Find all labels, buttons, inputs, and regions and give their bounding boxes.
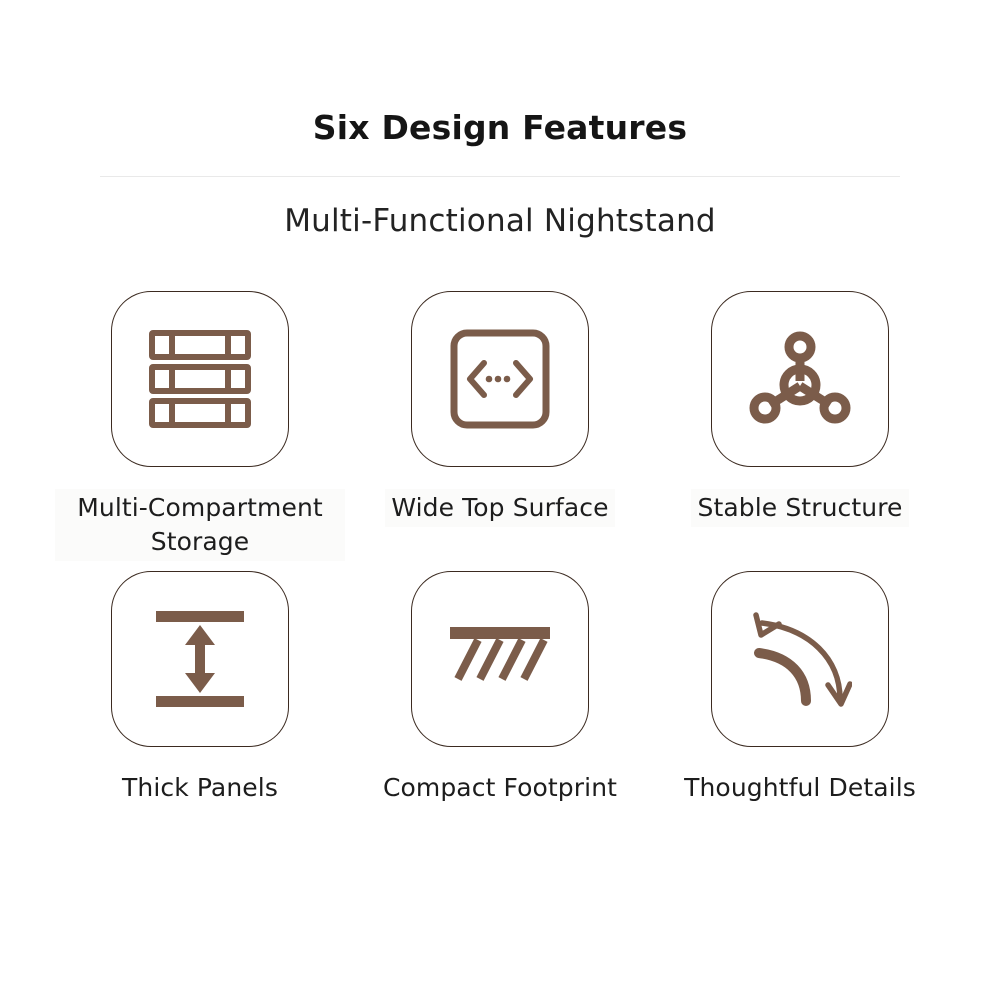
icon-tile — [411, 571, 589, 747]
feature-label: Compact Footprint — [377, 769, 623, 807]
feature-label: Multi-Compartment Storage — [55, 489, 345, 561]
feature-item-thick-panels[interactable]: Thick Panels — [50, 571, 350, 807]
page-title: Six Design Features — [313, 110, 687, 146]
feature-item-wide-top-surface[interactable]: Wide Top Surface — [350, 291, 650, 561]
width-measure-icon — [450, 329, 550, 429]
node-structure-icon — [748, 329, 852, 429]
page-subtitle: Multi-Functional Nightstand — [284, 203, 716, 239]
feature-item-thoughtful-details[interactable]: Thoughtful Details — [650, 571, 950, 807]
page-header: Six Design Features Multi-Functional Nig… — [0, 0, 1000, 239]
hatched-bar-icon — [449, 623, 551, 695]
icon-tile — [411, 291, 589, 467]
feature-showcase-page: Six Design Features Multi-Functional Nig… — [0, 0, 1000, 1000]
feature-item-multi-compartment-storage[interactable]: Multi-Compartment Storage — [50, 291, 350, 561]
stacked-compartments-icon — [148, 328, 252, 430]
features-grid: Multi-Compartment Storage Wide Top Surfa… — [50, 291, 950, 806]
icon-tile — [711, 571, 889, 747]
feature-item-stable-structure[interactable]: Stable Structure — [650, 291, 950, 561]
title-divider — [100, 176, 900, 177]
icon-tile — [711, 291, 889, 467]
feature-label: Thick Panels — [116, 769, 284, 807]
feature-label: Stable Structure — [691, 489, 908, 527]
icon-tile — [111, 571, 289, 747]
feature-item-compact-footprint[interactable]: Compact Footprint — [350, 571, 650, 807]
feature-label: Wide Top Surface — [385, 489, 614, 527]
thickness-arrow-icon — [152, 607, 248, 711]
feature-label: Thoughtful Details — [678, 769, 922, 807]
curved-arrows-icon — [748, 607, 852, 711]
icon-tile — [111, 291, 289, 467]
